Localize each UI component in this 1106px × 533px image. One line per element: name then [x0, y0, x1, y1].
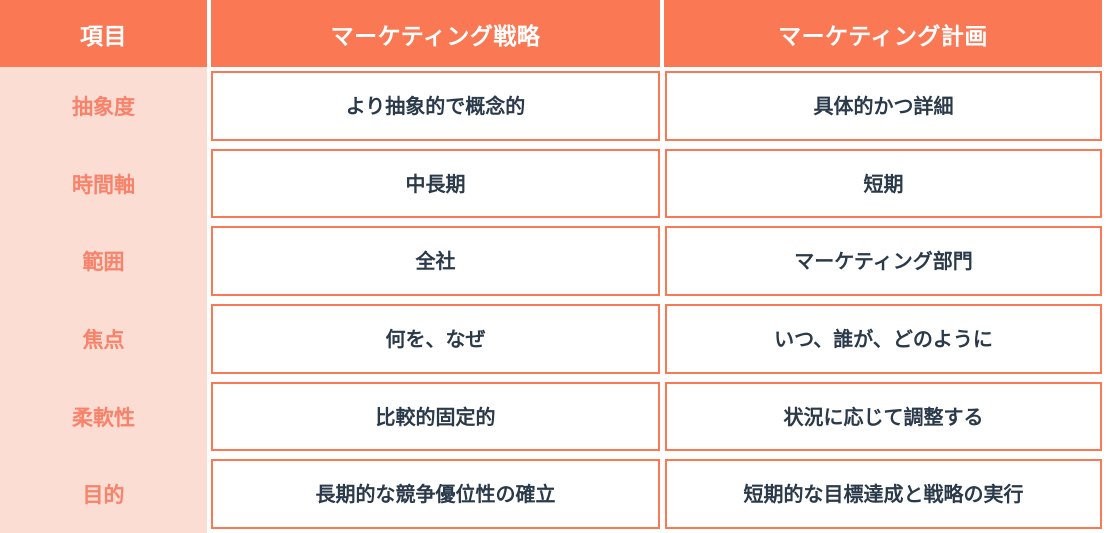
- row-value-strategy: 長期的な競争優位性の確立: [211, 459, 660, 529]
- header-cell-label-column: 項目: [0, 0, 207, 67]
- row-label: 時間軸: [0, 145, 207, 223]
- row-value-strategy: 何を、なぜ: [211, 304, 660, 374]
- row-value-plan: 状況に応じて調整する: [665, 382, 1102, 452]
- table-row: 焦点 何を、なぜ いつ、誰が、どのように: [0, 300, 1106, 378]
- table-body: 抽象度 より抽象的で概念的 具体的かつ詳細 時間軸 中長期 短期 範囲 全社 マ…: [0, 67, 1106, 533]
- table-row: 範囲 全社 マーケティング部門: [0, 222, 1106, 300]
- table-row: 目的 長期的な競争優位性の確立 短期的な目標達成と戦略の実行: [0, 455, 1106, 533]
- table-row: 抽象度 より抽象的で概念的 具体的かつ詳細: [0, 67, 1106, 145]
- table-row: 時間軸 中長期 短期: [0, 145, 1106, 223]
- row-value-strategy: 中長期: [211, 149, 660, 219]
- row-value-plan: マーケティング部門: [665, 226, 1102, 296]
- row-value-strategy: 全社: [211, 226, 660, 296]
- comparison-table: 項目 マーケティング戦略 マーケティング計画 抽象度 より抽象的で概念的 具体的…: [0, 0, 1106, 533]
- row-value-strategy: 比較的固定的: [211, 382, 660, 452]
- row-value-plan: 具体的かつ詳細: [665, 71, 1102, 141]
- row-label: 柔軟性: [0, 378, 207, 456]
- row-label: 抽象度: [0, 67, 207, 145]
- row-label: 目的: [0, 455, 207, 533]
- row-label: 範囲: [0, 222, 207, 300]
- row-value-plan: 短期: [665, 149, 1102, 219]
- header-cell-marketing-strategy: マーケティング戦略: [211, 0, 660, 67]
- row-value-plan: いつ、誰が、どのように: [665, 304, 1102, 374]
- row-value-plan: 短期的な目標達成と戦略の実行: [665, 459, 1102, 529]
- row-value-strategy: より抽象的で概念的: [211, 71, 660, 141]
- row-label: 焦点: [0, 300, 207, 378]
- header-cell-marketing-plan: マーケティング計画: [664, 0, 1102, 67]
- table-header-row: 項目 マーケティング戦略 マーケティング計画: [0, 0, 1106, 67]
- table-row: 柔軟性 比較的固定的 状況に応じて調整する: [0, 378, 1106, 456]
